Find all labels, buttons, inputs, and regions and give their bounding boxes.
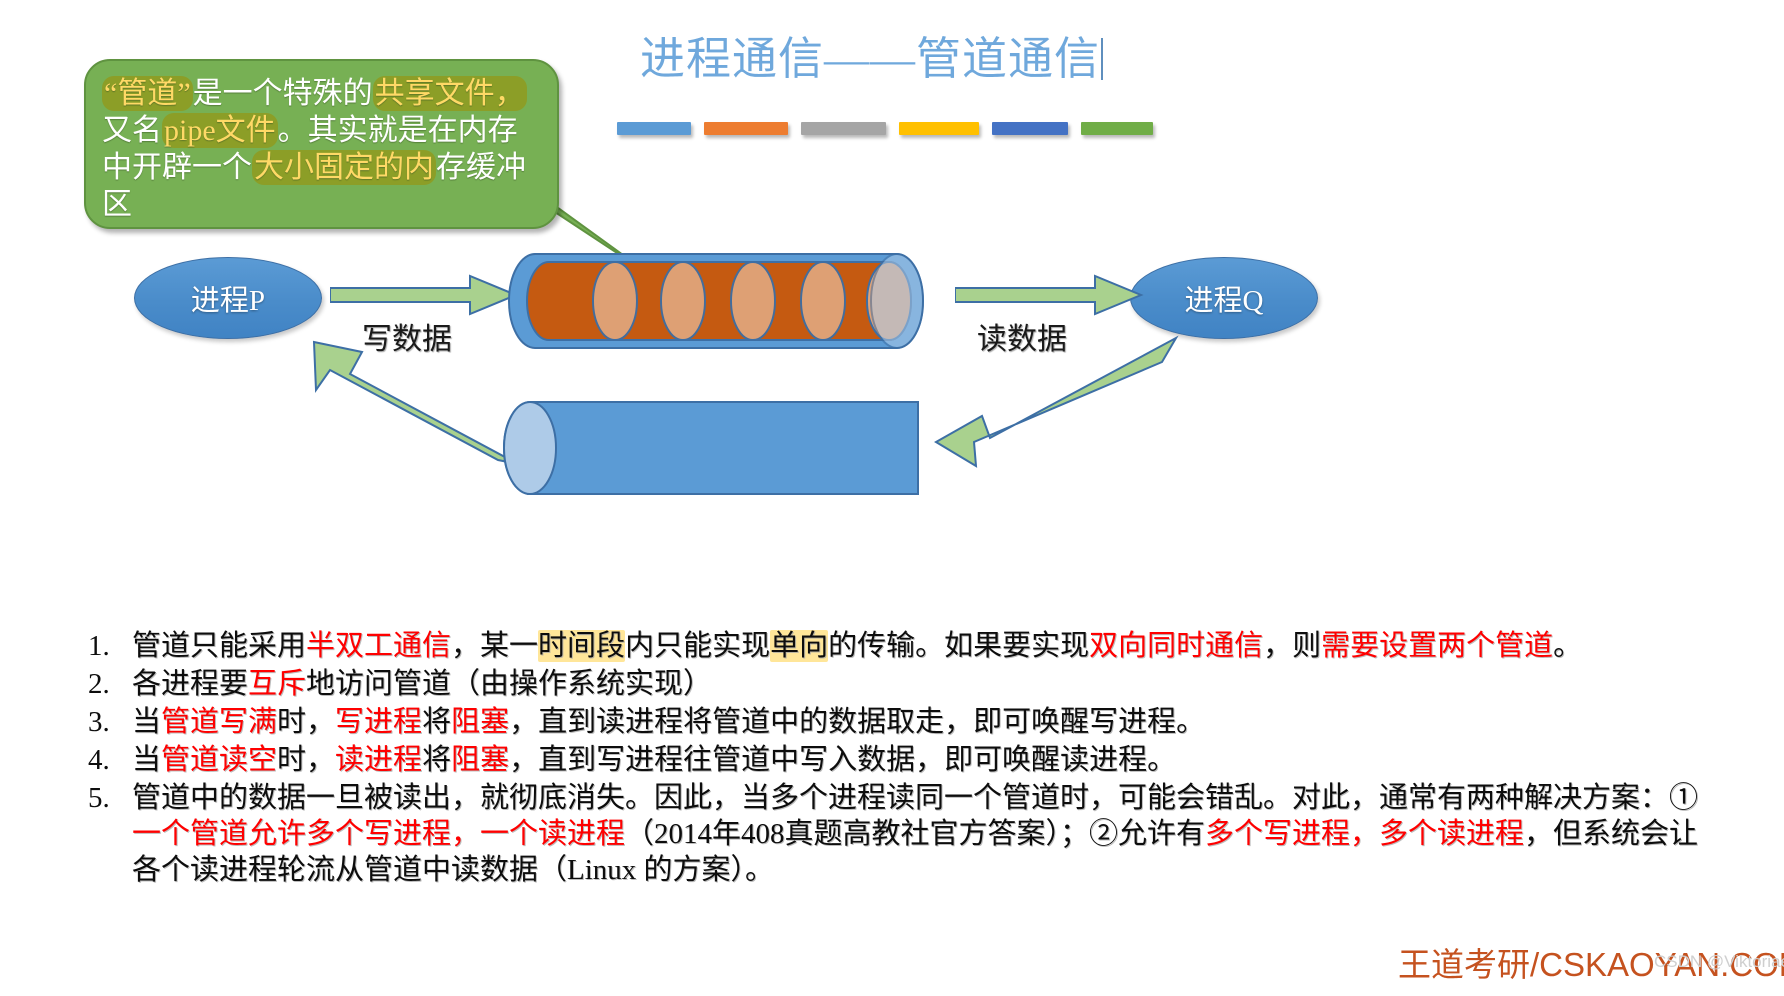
note-run-0-10: 。	[1553, 630, 1582, 662]
full-pipe-shape	[505, 248, 925, 358]
note-item: 3.当管道写满时，写进程将阻塞，直到读进程将管道中的数据取走，即可唤醒写进程。	[80, 704, 1720, 740]
note-run-4-3: 多个写进程，多个读进程	[1205, 818, 1524, 850]
note-run-4-0: 管道中的数据一旦被读出，就彻底消失。因此，当多个进程读同一个管道时，可能会错乱。…	[132, 782, 1698, 814]
write-arrow-label: 写数据	[362, 314, 452, 358]
note-run-0-0: 管道只能采用	[132, 630, 306, 662]
callout-run-6: 大小固定的内	[252, 150, 436, 185]
bar-blue	[617, 122, 691, 135]
note-run-0-3: 时间段	[538, 630, 625, 662]
process-p-node[interactable]: 进程P	[134, 257, 322, 339]
read-arrow-icon	[955, 270, 1145, 320]
callout-run-0: “管道”	[102, 76, 193, 111]
read-arrow-label: 读数据	[977, 314, 1067, 358]
note-text: 当管道写满时，写进程将阻塞，直到读进程将管道中的数据取走，即可唤醒写进程。	[132, 706, 1205, 738]
note-run-3-6: ，直到写进程往管道中写入数据，即可唤醒读进程。	[509, 744, 1176, 776]
note-text: 管道只能采用半双工通信，某一时间段内只能实现单向的传输。如果要实现双向同时通信，…	[132, 630, 1582, 662]
callout-run-3: 又名	[102, 114, 162, 147]
note-run-1-2: 地访问管道（由操作系统实现）	[306, 668, 712, 700]
note-run-0-4: 内只能实现	[625, 630, 770, 662]
callout-run-1: 是一个特殊的	[193, 77, 373, 110]
empty-pipe-shape	[500, 398, 920, 498]
note-number: 5.	[88, 780, 128, 816]
bar-gray	[801, 122, 886, 135]
note-text: 管道中的数据一旦被读出，就彻底消失。因此，当多个进程读同一个管道时，可能会错乱。…	[132, 782, 1698, 886]
note-run-0-8: ，则	[1263, 630, 1321, 662]
bar-orange	[704, 122, 788, 135]
note-run-0-9: 需要设置两个管道	[1321, 630, 1553, 662]
note-run-3-5: 阻塞	[451, 744, 509, 776]
bar-green	[1081, 122, 1153, 135]
note-item: 5.管道中的数据一旦被读出，就彻底消失。因此，当多个进程读同一个管道时，可能会错…	[80, 780, 1720, 888]
note-item: 2.各进程要互斥地访问管道（由操作系统实现）	[80, 666, 1720, 702]
callout-text: “管道”是一个特殊的共享文件，又名pipe文件。其实就是在内存中开辟一个大小固定…	[102, 75, 546, 223]
note-run-2-2: 时，	[277, 706, 335, 738]
note-run-0-2: ，某一	[451, 630, 538, 662]
bar-yellow	[899, 122, 979, 135]
csdn-watermark: CSDN @Viktoriae	[1654, 952, 1784, 972]
note-run-3-1: 管道读空	[161, 744, 277, 776]
write-arrow-icon	[330, 270, 520, 320]
note-run-1-1: 互斥	[248, 668, 306, 700]
note-run-2-4: 将	[422, 706, 451, 738]
note-run-3-3: 读进程	[335, 744, 422, 776]
note-run-2-5: 阻塞	[451, 706, 509, 738]
process-q-label: 进程Q	[1185, 277, 1264, 319]
note-run-3-4: 将	[422, 744, 451, 776]
pipe-diagram: 进程P 进程Q	[0, 230, 1784, 530]
note-run-2-1: 管道写满	[161, 706, 277, 738]
slide-canvas: 进程通信——管道通信 “管道”是一个特殊的共享文件，又名pipe文件。其实就是在…	[0, 0, 1784, 996]
callout-bubble: “管道”是一个特殊的共享文件，又名pipe文件。其实就是在内存中开辟一个大小固定…	[84, 59, 559, 229]
note-run-1-0: 各进程要	[132, 668, 248, 700]
note-run-2-0: 当	[132, 706, 161, 738]
bar-darkblue	[992, 122, 1068, 135]
note-number: 4.	[88, 742, 128, 778]
page-title-text: 进程通信——管道通信	[640, 34, 1100, 84]
note-text: 当管道读空时，读进程将阻塞，直到写进程往管道中写入数据，即可唤醒读进程。	[132, 744, 1176, 776]
process-p-label: 进程P	[191, 277, 265, 319]
note-run-4-2: （2014年408真题高教社官方答案）；②允许有	[625, 818, 1205, 850]
note-number: 3.	[88, 704, 128, 740]
note-run-2-6: ，直到读进程将管道中的数据取走，即可唤醒写进程。	[509, 706, 1205, 738]
note-run-3-0: 当	[132, 744, 161, 776]
note-text: 各进程要互斥地访问管道（由操作系统实现）	[132, 668, 712, 700]
note-number: 2.	[88, 666, 128, 702]
callout-run-4: pipe文件	[162, 113, 278, 148]
callout-run-2: 共享文件，	[373, 76, 527, 111]
notes-list: 1.管道只能采用半双工通信，某一时间段内只能实现单向的传输。如果要实现双向同时通…	[80, 628, 1720, 890]
text-caret	[1101, 38, 1103, 80]
page-title: 进程通信——管道通信	[640, 30, 1160, 88]
note-number: 1.	[88, 628, 128, 664]
accent-bar-row	[617, 122, 1166, 135]
note-item: 4.当管道读空时，读进程将阻塞，直到写进程往管道中写入数据，即可唤醒读进程。	[80, 742, 1720, 778]
note-run-3-2: 时，	[277, 744, 335, 776]
note-run-4-1: 一个管道允许多个写进程，一个读进程	[132, 818, 625, 850]
note-run-0-1: 半双工通信	[306, 630, 451, 662]
note-run-2-3: 写进程	[335, 706, 422, 738]
note-run-0-6: 的传输。如果要实现	[828, 630, 1089, 662]
notes-ordered-list: 1.管道只能采用半双工通信，某一时间段内只能实现单向的传输。如果要实现双向同时通…	[80, 628, 1720, 888]
note-run-0-5: 单向	[770, 630, 828, 662]
note-item: 1.管道只能采用半双工通信，某一时间段内只能实现单向的传输。如果要实现双向同时通…	[80, 628, 1720, 664]
note-run-0-7: 双向同时通信	[1089, 630, 1263, 662]
process-q-node[interactable]: 进程Q	[1130, 257, 1318, 339]
